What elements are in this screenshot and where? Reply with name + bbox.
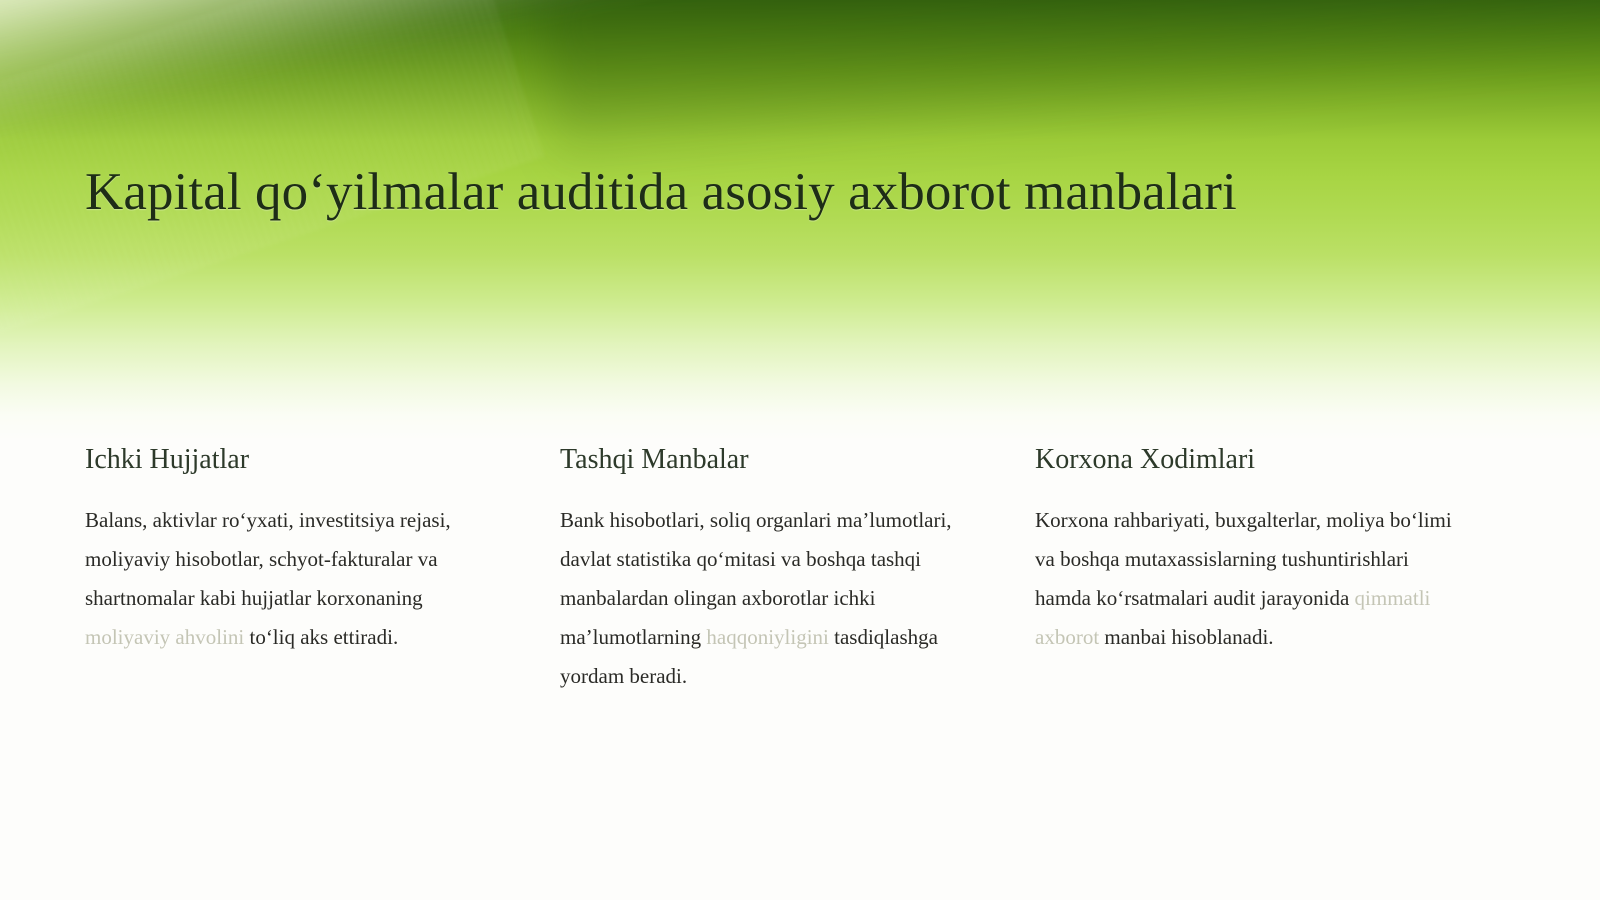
- column-company-staff: Korxona Xodimlari Korxona rahbariyati, b…: [1035, 443, 1465, 696]
- column-heading: Tashqi Manbalar: [560, 443, 972, 477]
- slide-root: Kapital qo‘yilmalar auditida asosiy axbo…: [0, 0, 1600, 900]
- body-text-highlight: haqqoniyligini: [706, 625, 829, 649]
- body-text-after: manbai hisoblanadi.: [1099, 625, 1273, 649]
- content-columns: Ichki Hujjatlar Balans, aktivlar ro‘yxat…: [85, 443, 1521, 696]
- column-internal-documents: Ichki Hujjatlar Balans, aktivlar ro‘yxat…: [85, 443, 497, 696]
- page-title: Kapital qo‘yilmalar auditida asosiy axbo…: [85, 163, 1505, 222]
- column-heading: Korxona Xodimlari: [1035, 443, 1465, 477]
- body-text-before: Balans, aktivlar ro‘yxati, investitsiya …: [85, 508, 451, 610]
- body-text-highlight: moliyaviy ahvolini: [85, 625, 244, 649]
- column-body: Korxona rahbariyati, buxgalterlar, moliy…: [1035, 501, 1465, 657]
- column-body: Balans, aktivlar ro‘yxati, investitsiya …: [85, 501, 497, 657]
- column-body: Bank hisobotlari, soliq organlari ma’lum…: [560, 501, 972, 696]
- body-text-after: to‘liq aks ettiradi.: [244, 625, 398, 649]
- column-heading: Ichki Hujjatlar: [85, 443, 497, 477]
- column-external-sources: Tashqi Manbalar Bank hisobotlari, soliq …: [560, 443, 972, 696]
